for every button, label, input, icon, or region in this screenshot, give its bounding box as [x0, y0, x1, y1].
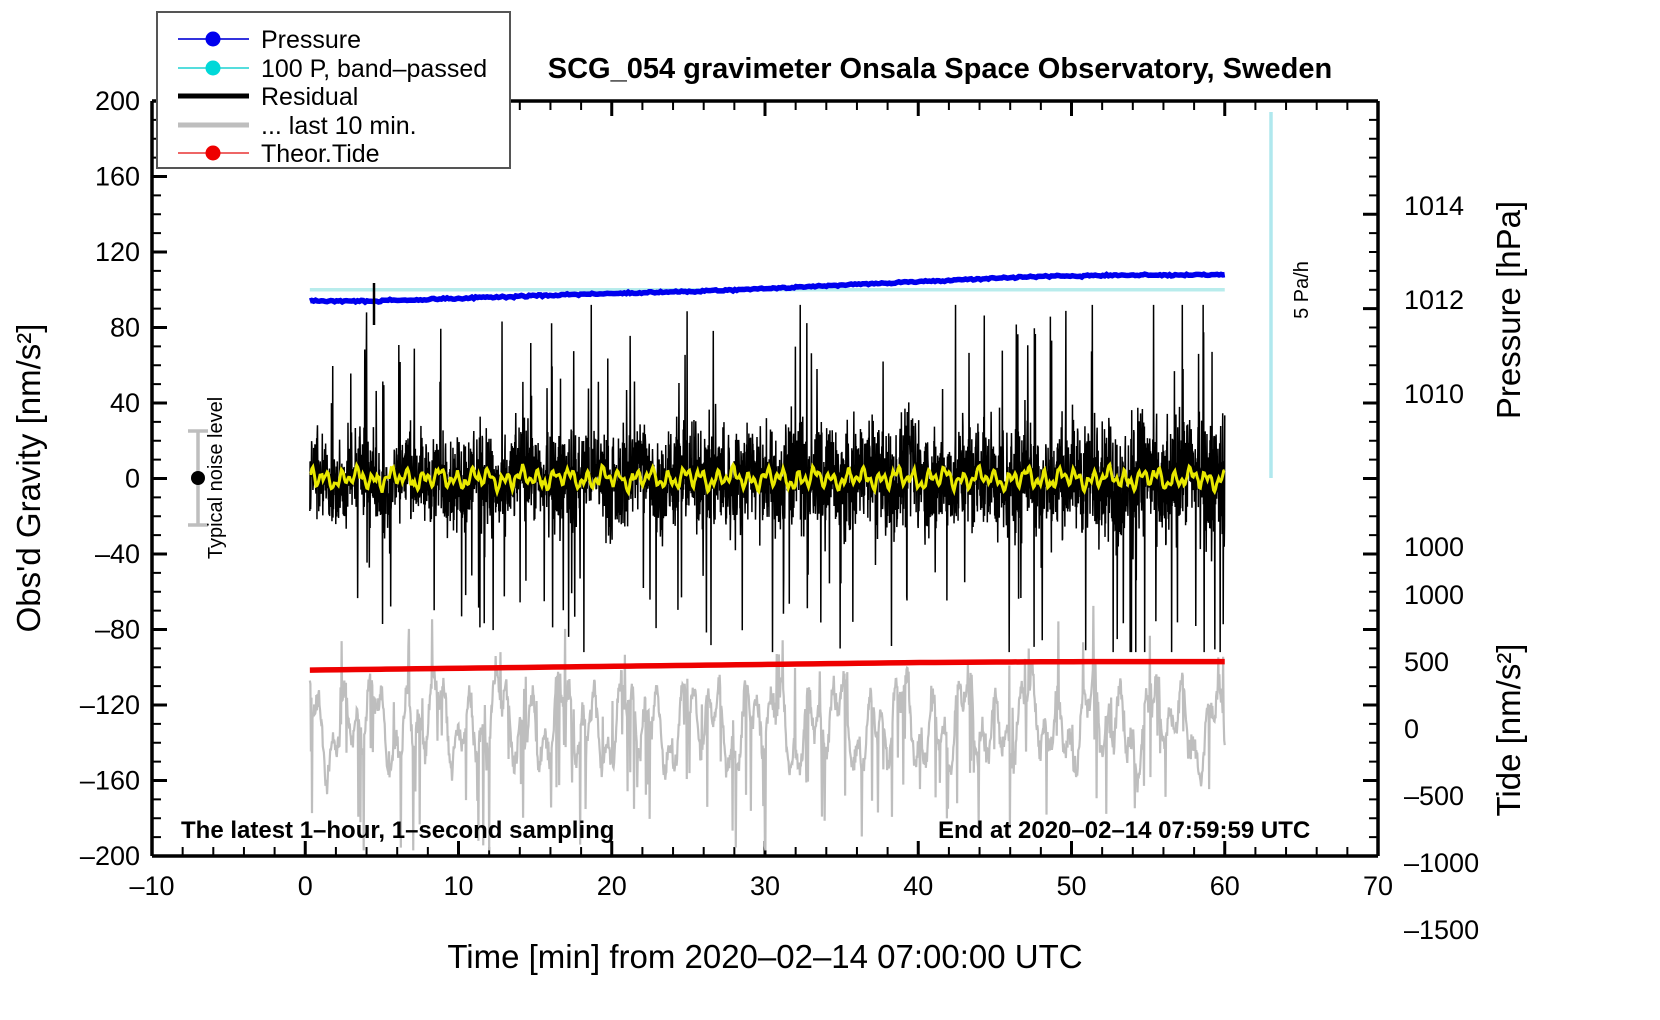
y-tick-label: –120 — [80, 690, 140, 720]
tide-tick-label: –500 — [1404, 781, 1464, 811]
y-tick-label: 120 — [95, 237, 140, 267]
noise-level-label: Typical noise level — [205, 397, 227, 559]
gravimeter-chart-figure: –10 0 10 20 30 40 50 60 70 –200 –160 –12… — [0, 0, 1660, 1020]
y-tick-label: 0 — [125, 464, 140, 494]
x-tick-label: 50 — [1056, 871, 1086, 901]
legend-label: 100 P, band–passed — [261, 55, 487, 83]
pressure-tick-label: 1014 — [1404, 191, 1464, 221]
x-tick-label: 60 — [1210, 871, 1240, 901]
legend-label: Theor.Tide — [261, 140, 380, 168]
x-tick-label: 10 — [443, 871, 473, 901]
y-axis-title-right-tide: Tide [nm/s²] — [1490, 644, 1527, 817]
tide-tick-label: 500 — [1404, 647, 1449, 677]
pressure-tick-label: 1000 — [1404, 532, 1464, 562]
y-tick-label: –80 — [95, 615, 140, 645]
x-tick-label: 30 — [750, 871, 780, 901]
bottom-left-note: The latest 1–hour, 1–second sampling — [181, 817, 614, 844]
y-tick-label: 160 — [95, 162, 140, 192]
legend-marker-dot — [206, 146, 221, 161]
tide-tick-label: 1000 — [1404, 580, 1464, 610]
x-tick-label: 20 — [597, 871, 627, 901]
chart-svg: –10 0 10 20 30 40 50 60 70 –200 –160 –12… — [0, 0, 1660, 1020]
y-tick-label: 200 — [95, 86, 140, 116]
tide-tick-label: –1000 — [1404, 848, 1479, 878]
y-tick-label: 40 — [110, 388, 140, 418]
legend-label: Pressure — [261, 26, 361, 54]
legend-label: ... last 10 min. — [261, 112, 417, 140]
x-tick-label: 0 — [298, 871, 313, 901]
y-tick-label: –200 — [80, 841, 140, 871]
y-tick-label: –40 — [95, 539, 140, 569]
bottom-right-note: End at 2020–02–14 07:59:59 UTC — [938, 817, 1310, 844]
plot-title: SCG_054 gravimeter Onsala Space Observat… — [548, 53, 1332, 85]
tide-tick-label: 0 — [1404, 714, 1419, 744]
y-tick-label: 80 — [110, 313, 140, 343]
legend-label: Residual — [261, 83, 358, 111]
legend-marker-dot — [206, 61, 221, 76]
legend-marker-dot — [206, 32, 221, 47]
scalebar-label: 5 Pa/h — [1291, 261, 1313, 319]
y-axis-title-right-pressure: Pressure [hPa] — [1490, 201, 1527, 419]
tide-tick-label: –1500 — [1404, 915, 1479, 945]
y-tick-label: –160 — [80, 766, 140, 796]
x-tick-label: –10 — [129, 871, 174, 901]
x-tick-label: 70 — [1363, 871, 1393, 901]
x-tick-label: 40 — [903, 871, 933, 901]
pressure-tick-label: 1012 — [1404, 285, 1464, 315]
legend: Pressure 100 P, band–passed Residual ...… — [157, 12, 510, 168]
pressure-tick-label: 1010 — [1404, 379, 1464, 409]
x-axis-title: Time [min] from 2020–02–14 07:00:00 UTC — [447, 938, 1082, 975]
y-axis-title-left: Obs'd Gravity [nm/s²] — [10, 324, 47, 633]
